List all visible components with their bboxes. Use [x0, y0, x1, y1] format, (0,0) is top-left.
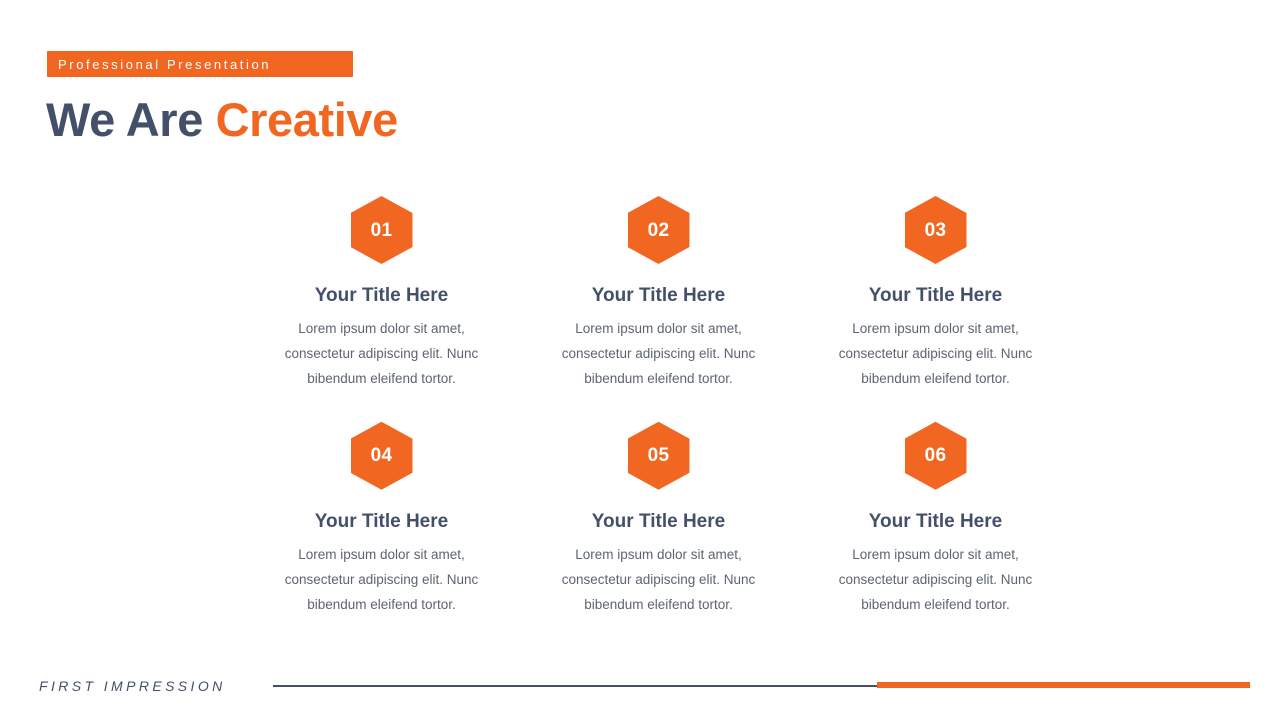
feature-item-06[interactable]: 06 Your Title Here Lorem ipsum dolor sit…: [797, 422, 1074, 618]
feature-title: Your Title Here: [315, 286, 448, 305]
feature-description: Lorem ipsum dolor sit amet, consectetur …: [546, 542, 771, 618]
hexagon-number: 04: [371, 446, 393, 465]
hexagon-number: 05: [648, 446, 670, 465]
page-title: We Are Creative: [46, 96, 398, 143]
hexagon-badge-icon: 06: [905, 422, 967, 490]
hexagon-badge-icon: 01: [351, 196, 413, 264]
footer-divider-dark: [273, 685, 877, 687]
feature-title: Your Title Here: [592, 512, 725, 531]
feature-grid-row: 04 Your Title Here Lorem ipsum dolor sit…: [243, 422, 1075, 618]
hexagon-badge-icon: 05: [628, 422, 690, 490]
hexagon-number: 03: [925, 221, 947, 240]
feature-title: Your Title Here: [315, 512, 448, 531]
feature-description: Lorem ipsum dolor sit amet, consectetur …: [546, 316, 771, 392]
feature-item-04[interactable]: 04 Your Title Here Lorem ipsum dolor sit…: [243, 422, 520, 618]
feature-grid: 01 Your Title Here Lorem ipsum dolor sit…: [243, 196, 1075, 617]
slide-tag-badge: Professional Presentation: [47, 51, 353, 77]
feature-item-01[interactable]: 01 Your Title Here Lorem ipsum dolor sit…: [243, 196, 520, 392]
presentation-slide: Professional Presentation We Are Creativ…: [0, 0, 1280, 720]
feature-item-03[interactable]: 03 Your Title Here Lorem ipsum dolor sit…: [797, 196, 1074, 392]
feature-description: Lorem ipsum dolor sit amet, consectetur …: [823, 542, 1048, 618]
hexagon-number: 02: [648, 221, 670, 240]
footer-divider-accent: [877, 682, 1250, 688]
feature-item-05[interactable]: 05 Your Title Here Lorem ipsum dolor sit…: [520, 422, 797, 618]
footer-label: FIRST IMPRESSION: [39, 678, 226, 694]
page-title-accent: Creative: [216, 93, 398, 146]
hexagon-badge-icon: 03: [905, 196, 967, 264]
feature-description: Lorem ipsum dolor sit amet, consectetur …: [269, 542, 494, 618]
feature-title: Your Title Here: [592, 286, 725, 305]
page-title-primary: We Are: [46, 93, 216, 146]
feature-description: Lorem ipsum dolor sit amet, consectetur …: [269, 316, 494, 392]
hexagon-badge-icon: 04: [351, 422, 413, 490]
hexagon-number: 01: [371, 221, 393, 240]
hexagon-badge-icon: 02: [628, 196, 690, 264]
hexagon-number: 06: [925, 446, 947, 465]
feature-title: Your Title Here: [869, 286, 1002, 305]
feature-description: Lorem ipsum dolor sit amet, consectetur …: [823, 316, 1048, 392]
feature-grid-row: 01 Your Title Here Lorem ipsum dolor sit…: [243, 196, 1075, 392]
feature-title: Your Title Here: [869, 512, 1002, 531]
feature-item-02[interactable]: 02 Your Title Here Lorem ipsum dolor sit…: [520, 196, 797, 392]
